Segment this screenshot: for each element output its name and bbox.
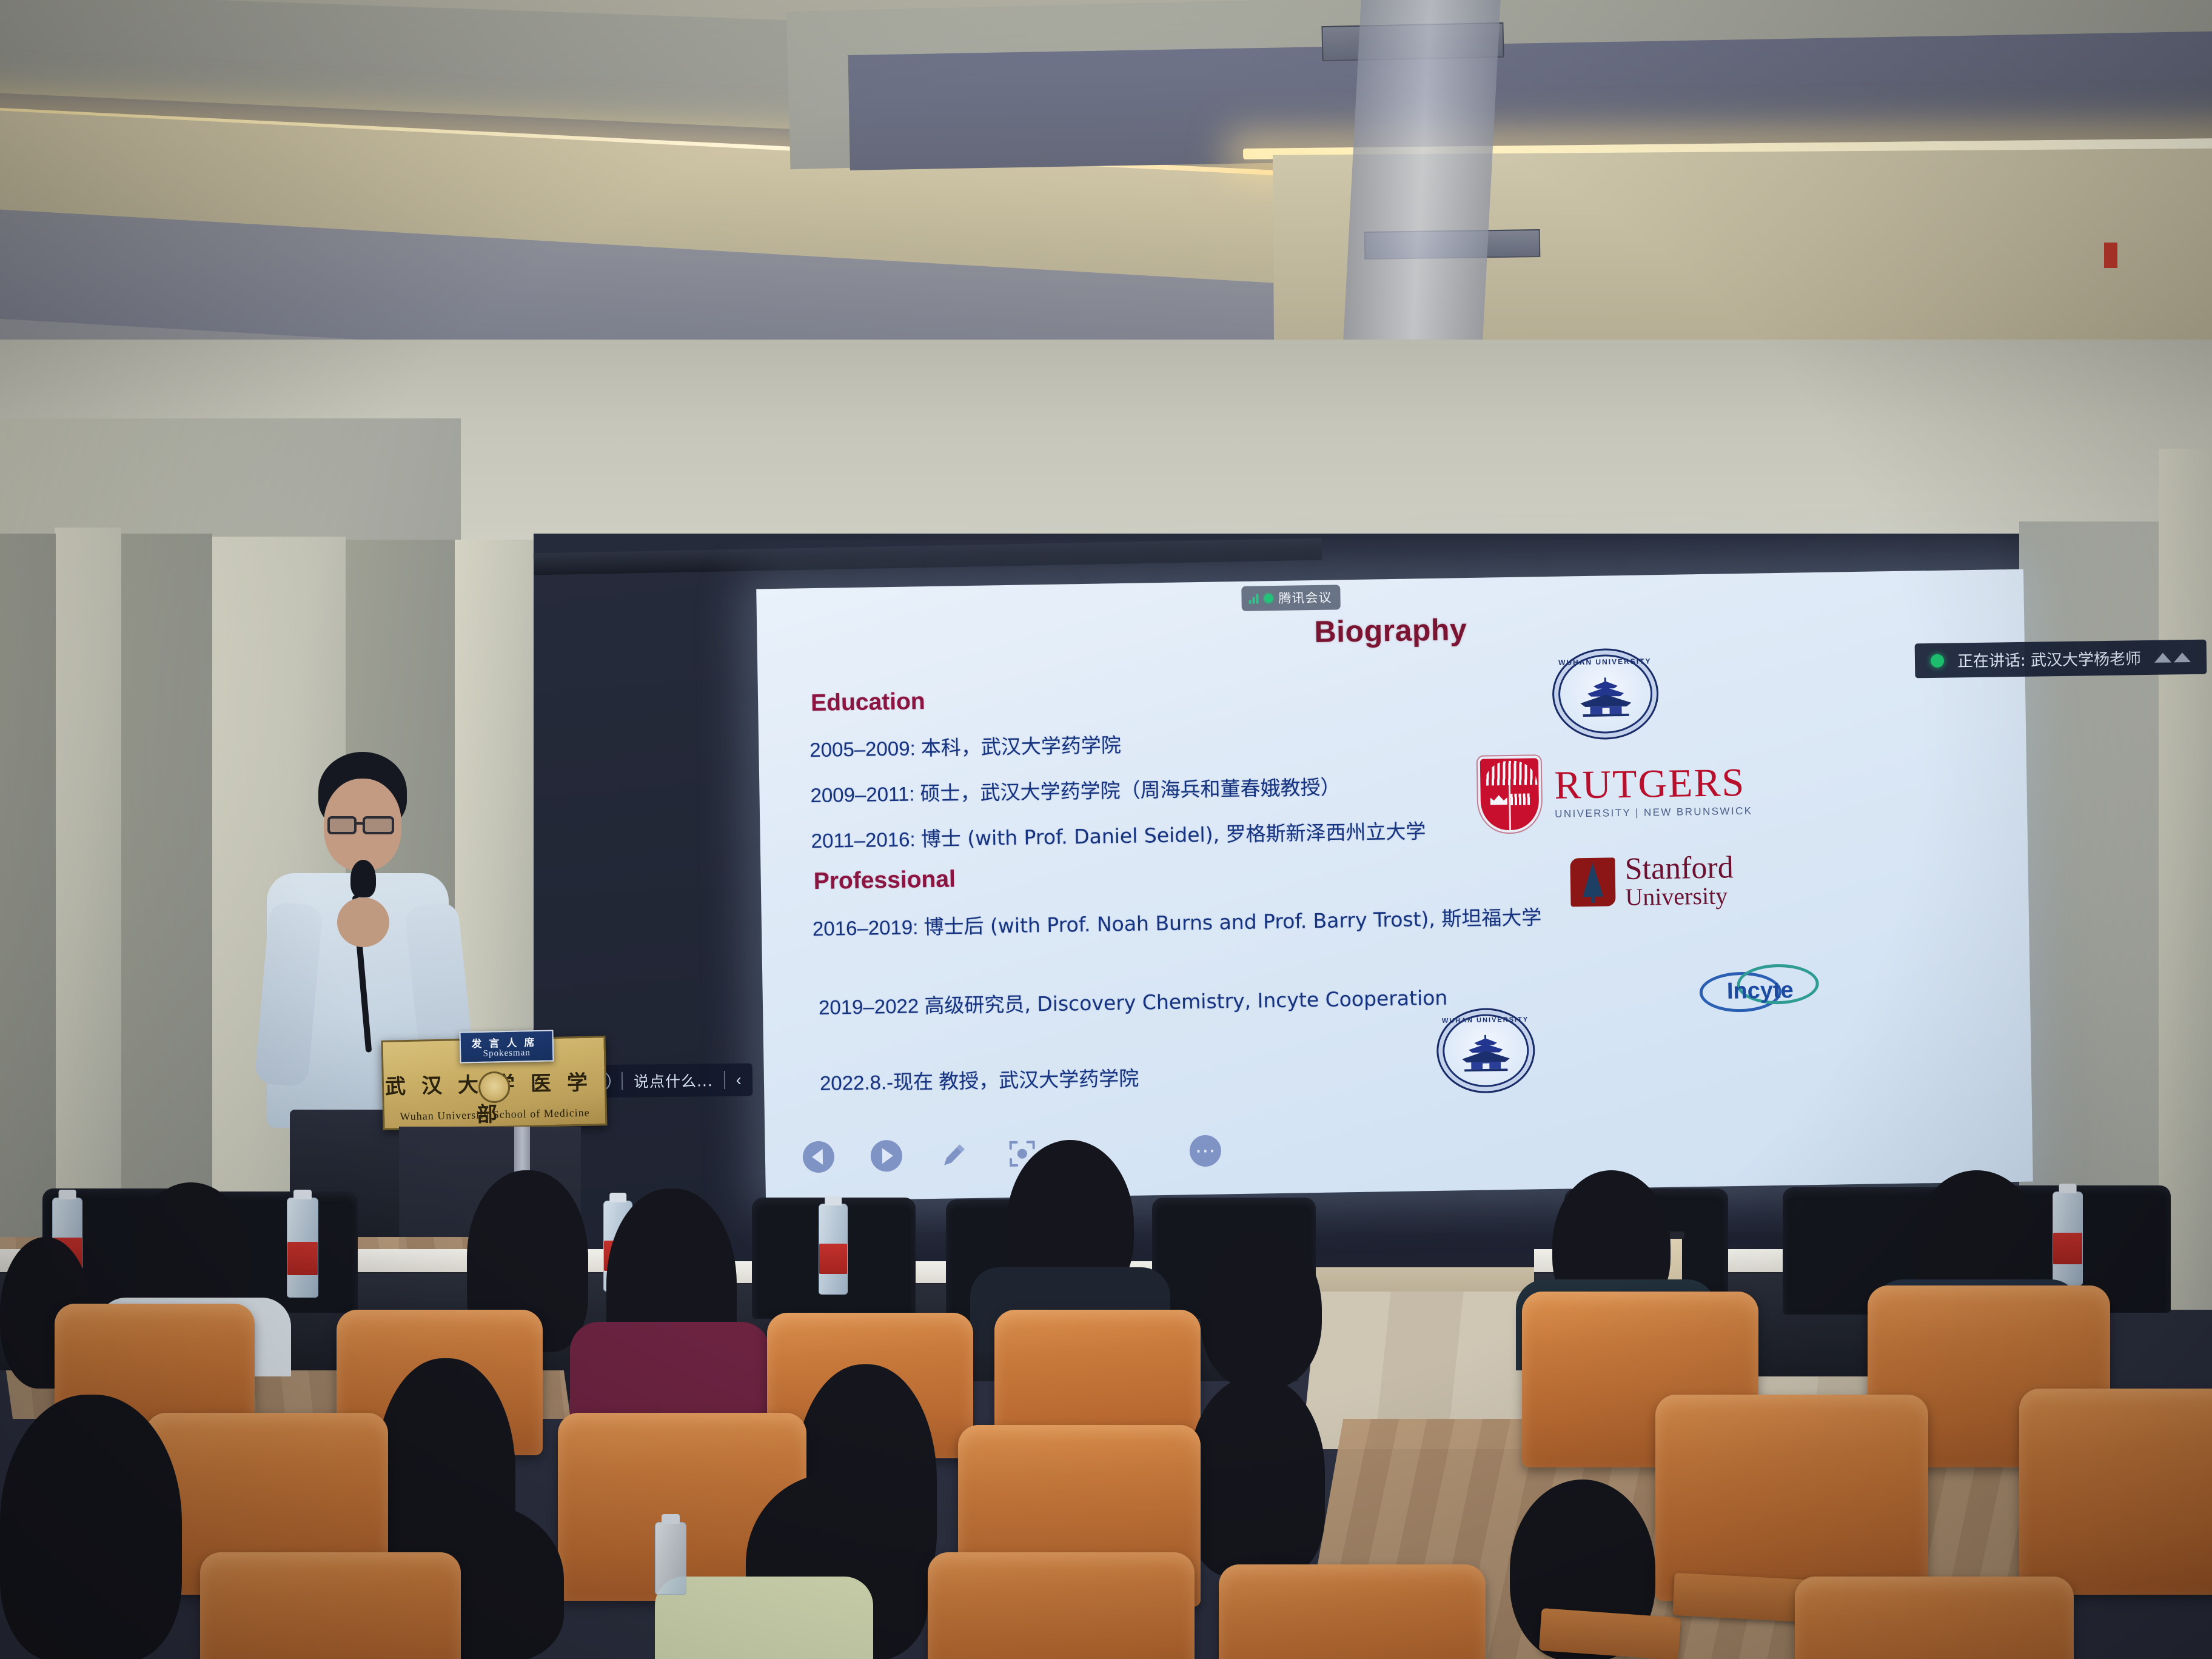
microphone — [350, 860, 376, 897]
wuhan-seal-arc-text-2: WUHAN UNIVERSITY — [1438, 1016, 1532, 1024]
prof-entry-1-text: 博士后 (with Prof. Noah Burns and Prof. Bar… — [923, 905, 1541, 939]
spokesman-label-en: Spokesman — [461, 1047, 552, 1059]
incyte-logo: Incyte — [1699, 964, 1821, 1019]
presenter-glasses-left — [327, 816, 357, 834]
wall-panel-1 — [121, 534, 212, 1231]
seat-r2-c5 — [2019, 1389, 2212, 1595]
prof-entry-3-text: 教授，武汉大学药学院 — [939, 1067, 1139, 1093]
seat-back — [1655, 1395, 1928, 1601]
prof-entry-3-years: 2022.8.-现在 — [820, 1070, 934, 1094]
chat-input-placeholder[interactable]: 说点什么... — [634, 1069, 713, 1091]
wall-pillar-1 — [55, 528, 121, 1243]
prof-entry-1: 2016–2019: 博士后 (with Prof. Noah Burns an… — [813, 901, 1542, 942]
water-bottle-8 — [2053, 1191, 2083, 1285]
stanford-logo: Stanford University — [1570, 851, 1734, 911]
edu-entry-1-text: 本科，武汉大学药学院 — [921, 733, 1122, 760]
divider-2 — [724, 1071, 725, 1089]
signal-bars-icon — [1248, 593, 1258, 603]
rutgers-wordmark: RUTGERS — [1554, 763, 1752, 805]
audience-shoulder-c3 — [655, 1577, 873, 1659]
green-mic-dot-icon — [1931, 654, 1944, 667]
meeting-app-name: 腾讯会议 — [1278, 588, 1332, 607]
edu-entry-1: 2005–2009: 本科，武汉大学药学院 — [809, 729, 1121, 763]
pagoda-icon-2 — [1458, 1034, 1513, 1073]
pagoda-icon — [1576, 677, 1635, 718]
rutgers-logo: RUTGERS UNIVERSITY | NEW BRUNSWICK — [1478, 752, 1753, 833]
presenter-glasses-bridge — [357, 822, 364, 825]
audience-head-c1 — [0, 1395, 182, 1659]
tencent-meeting-badge: 腾讯会议 — [1241, 585, 1341, 611]
more-options-button[interactable]: ⋯ — [1188, 1134, 1222, 1168]
stanford-tree-icon — [1570, 857, 1615, 907]
prev-slide-button[interactable] — [801, 1140, 836, 1175]
wuhan-university-seal-icon-2: WUHAN UNIVERSITY — [1436, 1007, 1535, 1094]
rutgers-shield-icon — [1478, 756, 1542, 833]
seat-r3-c2 — [928, 1552, 1195, 1659]
chevron-left-icon — [812, 1149, 823, 1165]
edu-entry-3: 2011–2016: 博士 (with Prof. Daniel Seidel)… — [811, 815, 1426, 854]
stanford-subtitle: University — [1625, 883, 1734, 910]
seat-back — [928, 1552, 1195, 1659]
prof-entry-2-text: 高级研究员, Discovery Chemistry, Incyte Coope… — [924, 986, 1448, 1018]
seat-back — [200, 1552, 461, 1659]
wuhan-university-seal-icon: WUHAN UNIVERSITY — [1552, 648, 1659, 740]
seat-r3-c4 — [1795, 1577, 2074, 1659]
section-heading-education: Education — [811, 688, 925, 717]
play-icon — [882, 1148, 893, 1164]
wuhan-seal-arc-text: WUHAN UNIVERSITY — [1553, 657, 1656, 667]
presenter-glasses-right — [363, 816, 394, 834]
edu-entry-3-years: 2011–2016: — [811, 828, 915, 852]
seat-r2-c4 — [1655, 1395, 1928, 1601]
slide-title: Biography — [757, 603, 2025, 659]
seat-back — [2019, 1389, 2212, 1595]
rutgers-rays — [1484, 760, 1538, 785]
water-bottle-front — [655, 1522, 686, 1595]
collapse-chat-button[interactable]: ‹ — [736, 1070, 742, 1089]
seat-r3-c1 — [200, 1552, 461, 1659]
crown-icon — [1489, 793, 1509, 806]
annotate-pen-button[interactable] — [937, 1138, 971, 1172]
pen-icon — [939, 1139, 970, 1170]
audience-head-a7 — [1201, 1231, 1322, 1389]
edu-entry-2-years: 2009–2011: — [810, 782, 914, 806]
incyte-wordmark: Incyte — [1699, 977, 1821, 1005]
audience-head-b3 — [1188, 1376, 1325, 1577]
seat-r3-c3 — [1219, 1564, 1486, 1659]
seat-back — [1219, 1564, 1486, 1659]
edu-entry-2: 2009–2011: 硕士，武汉大学药学院（周海兵和董春娥教授） — [810, 771, 1341, 808]
ceiling-strip-metal — [1343, 0, 1500, 340]
lecture-hall-photo: 腾讯会议 Biography Education 2005–2009: 本科，武… — [0, 0, 2212, 1659]
red-marker — [2104, 243, 2117, 268]
audio-wave-icon — [2154, 652, 2191, 663]
audience-shoulder-a3 — [570, 1322, 770, 1425]
right-wall-pillar — [2159, 449, 2212, 1310]
seat-back — [1795, 1577, 2074, 1659]
spokesman-plaque: 发言人席 Spokesman — [459, 1030, 554, 1063]
prof-entry-1-years: 2016–2019: — [813, 916, 919, 940]
speaking-text: 正在讲话: 武汉大学杨老师 — [1957, 646, 2142, 671]
stanford-wordmark: Stanford — [1624, 851, 1734, 885]
edu-entry-2-text: 硕士，武汉大学药学院（周海兵和董春娥教授） — [920, 775, 1341, 805]
edu-entry-1-years: 2005–2009: — [809, 737, 916, 761]
prof-entry-3: 2022.8.-现在 教授，武汉大学药学院 — [820, 1062, 1139, 1096]
water-bottle-2 — [287, 1198, 318, 1298]
prof-entry-2-years: 2019–2022 — [819, 994, 919, 1019]
prof-entry-2: 2019–2022 高级研究员, Discovery Chemistry, In… — [819, 982, 1448, 1021]
more-dots-icon: ⋯ — [1195, 1151, 1216, 1151]
rutgers-book-icon — [1510, 793, 1531, 805]
projection-screen: 腾讯会议 Biography Education 2005–2009: 本科，武… — [756, 569, 2033, 1202]
rutgers-subtitle: UNIVERSITY | NEW BRUNSWICK — [1555, 805, 1753, 820]
speaking-notification: 正在讲话: 武汉大学杨老师 — [1915, 640, 2207, 679]
next-slide-button[interactable] — [869, 1139, 903, 1173]
edu-entry-3-text: 博士 (with Prof. Daniel Seidel), 罗格斯新泽西州立大… — [920, 819, 1426, 851]
slide-toolbar[interactable]: ⋯ — [801, 1134, 1222, 1175]
green-dot-icon — [1264, 594, 1273, 603]
water-bottle-4 — [819, 1204, 848, 1295]
wall-panel-3 — [0, 534, 56, 1237]
presenter-hand — [337, 897, 389, 947]
section-heading-professional: Professional — [813, 866, 956, 895]
